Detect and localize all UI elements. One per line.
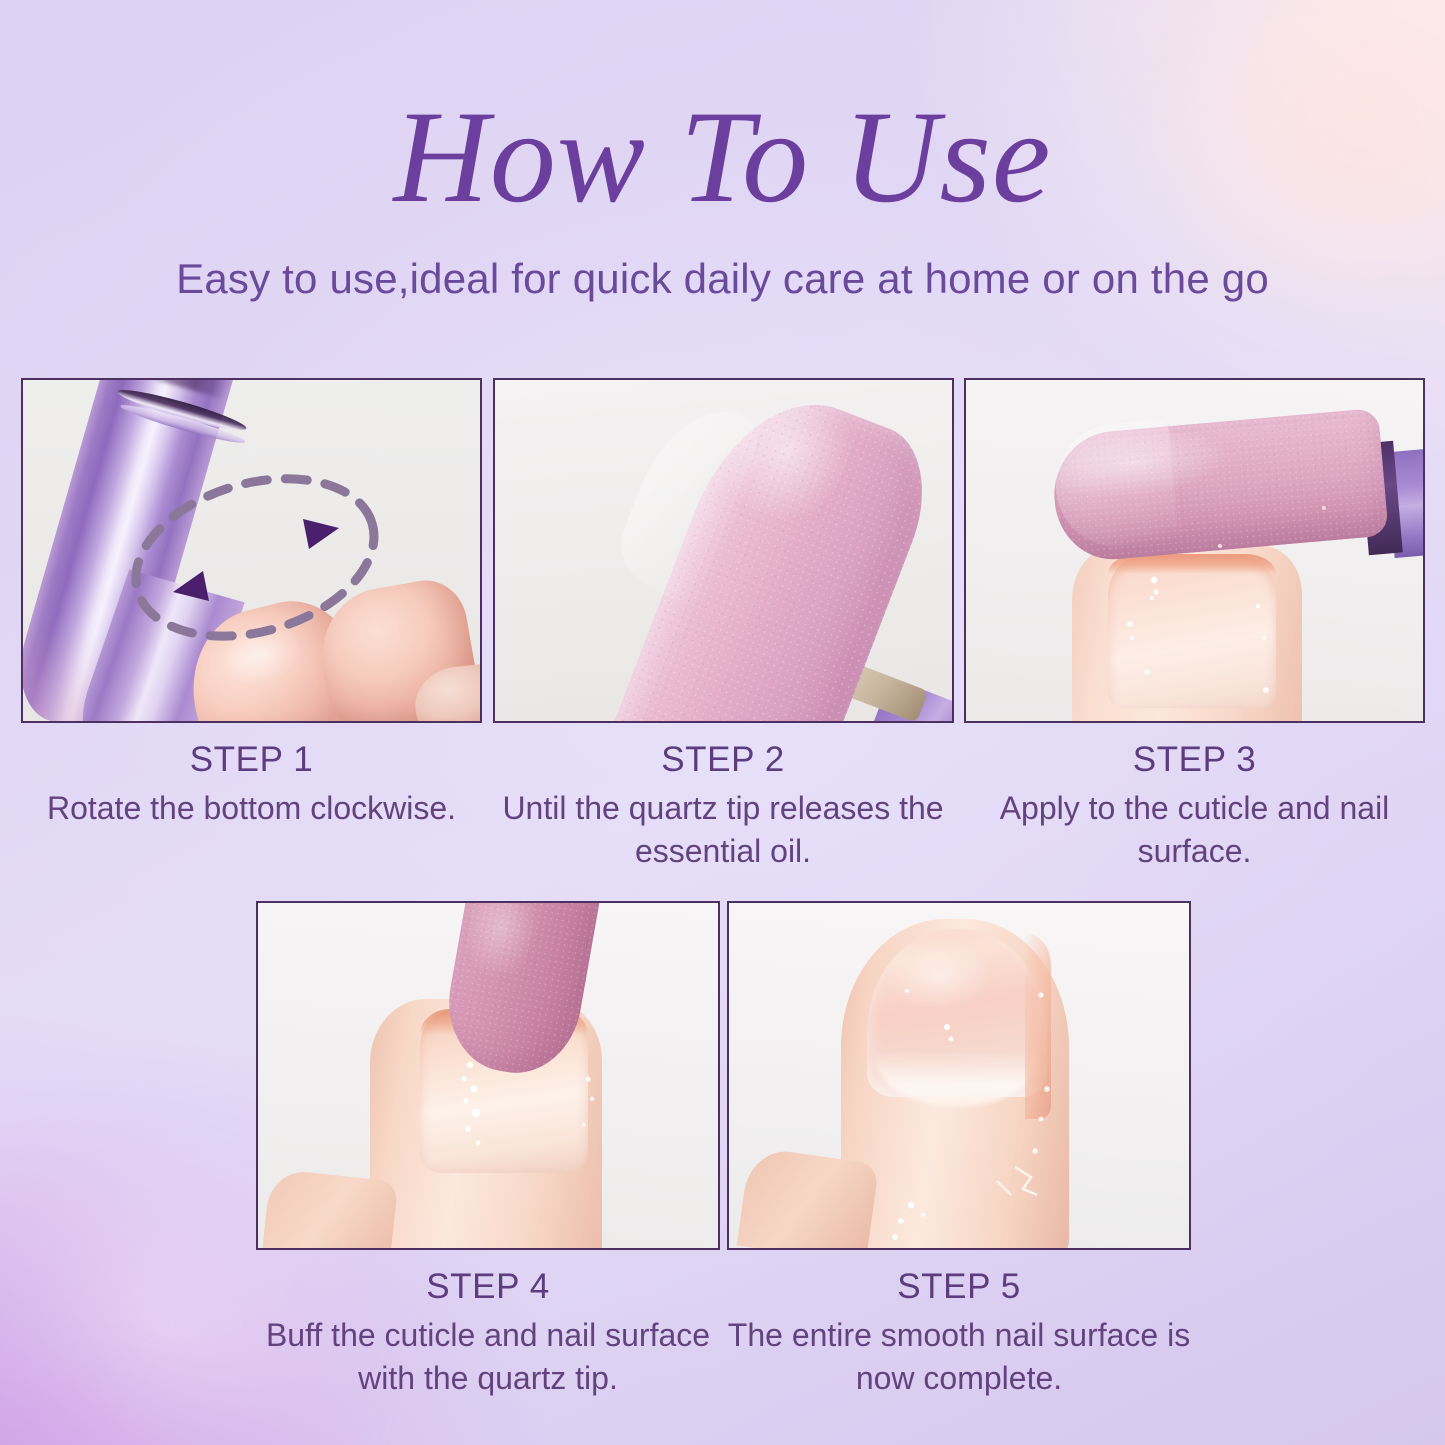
step-5-photo (727, 901, 1191, 1250)
step-2-photo (493, 378, 954, 723)
oil-droplet-icon (966, 380, 1423, 721)
step-5-description: The entire smooth nail surface is now co… (727, 1314, 1191, 1400)
step-3-label: STEP 3 (964, 740, 1425, 780)
step-4-photo-inner (258, 903, 718, 1248)
step-4-photo (256, 901, 720, 1250)
oil-droplet-icon (258, 903, 718, 1248)
step-2-description: Until the quartz tip releases the essent… (493, 787, 954, 873)
header: How To Use Easy to use,ideal for quick d… (0, 86, 1445, 303)
steps-row-top: STEP 1 Rotate the bottom clockwise. STEP… (21, 378, 1425, 873)
rotate-arrow-icon (23, 380, 480, 721)
step-1-description: Rotate the bottom clockwise. (21, 787, 482, 830)
step-3-description: Apply to the cuticle and nail surface. (964, 787, 1425, 873)
step-card-3: STEP 3 Apply to the cuticle and nail sur… (964, 378, 1425, 873)
step-4-description: Buff the cuticle and nail surface with t… (256, 1314, 720, 1400)
shine-icon (729, 903, 1189, 1248)
steps-row-bottom: STEP 4 Buff the cuticle and nail surface… (256, 901, 1191, 1400)
step-2-photo-inner (495, 380, 952, 721)
step-3-photo-inner (966, 380, 1423, 721)
step-1-photo (21, 378, 482, 723)
step-4-label: STEP 4 (256, 1267, 720, 1307)
step-1-label: STEP 1 (21, 740, 482, 780)
page-subtitle: Easy to use,ideal for quick daily care a… (0, 255, 1445, 303)
step-5-label: STEP 5 (727, 1267, 1191, 1307)
step-1-photo-inner (23, 380, 480, 721)
step-card-5: STEP 5 The entire smooth nail surface is… (727, 901, 1191, 1400)
step-2-label: STEP 2 (493, 740, 954, 780)
step-card-2: STEP 2 Until the quartz tip releases the… (493, 378, 954, 873)
step-card-4: STEP 4 Buff the cuticle and nail surface… (256, 901, 720, 1400)
step-card-1: STEP 1 Rotate the bottom clockwise. (21, 378, 482, 873)
step-5-photo-inner (729, 903, 1189, 1248)
page-title: How To Use (0, 86, 1445, 229)
how-to-use-infographic: How To Use Easy to use,ideal for quick d… (0, 0, 1445, 1445)
step-3-photo (964, 378, 1425, 723)
